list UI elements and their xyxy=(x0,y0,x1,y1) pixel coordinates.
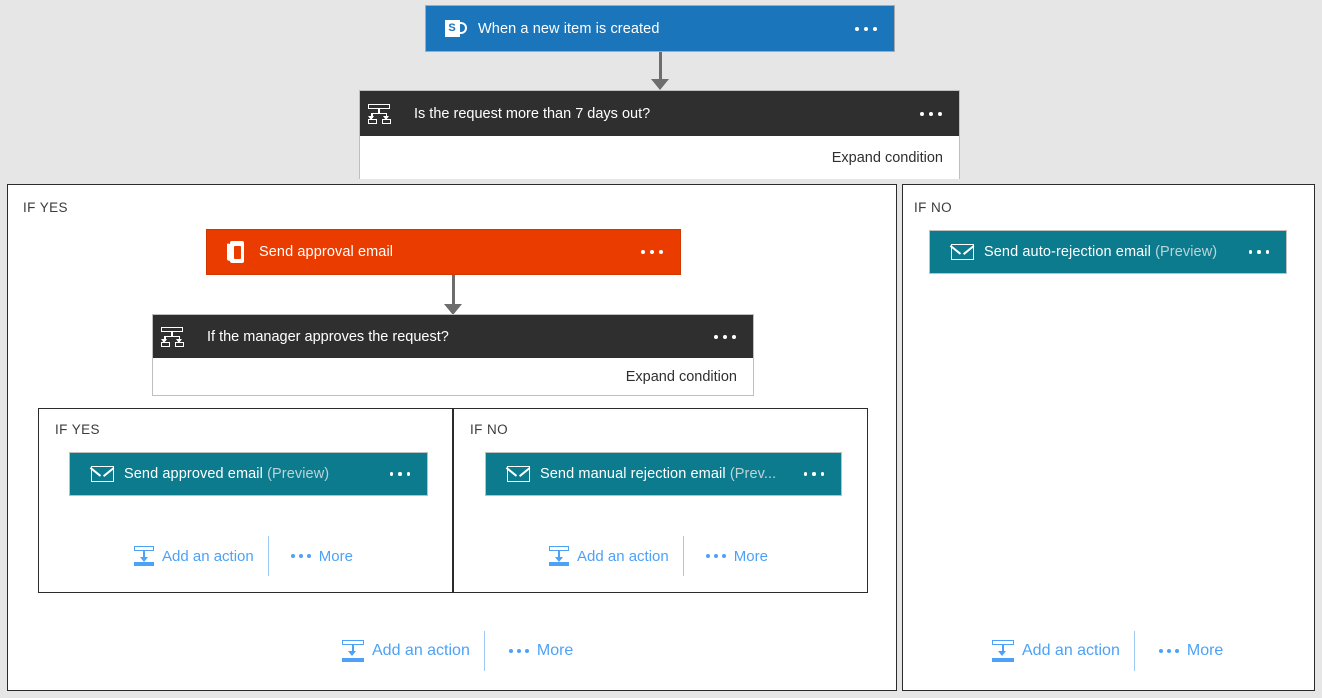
trigger-card-when-new-item-created[interactable]: S When a new item is created xyxy=(425,5,895,52)
nested-condition-card[interactable]: If the manager approves the request? Exp… xyxy=(152,314,754,396)
add-action-icon xyxy=(134,546,154,566)
connector-approval-to-nested-condition xyxy=(443,275,463,315)
send-approved-email-more-options-icon[interactable] xyxy=(390,472,428,476)
nested-if-no-label: IF NO xyxy=(470,422,508,437)
more-label: More xyxy=(1187,642,1223,660)
if-no-branch-label: IF NO xyxy=(914,200,952,215)
add-action-icon xyxy=(992,640,1014,662)
top-condition-more-options-icon[interactable] xyxy=(920,112,959,116)
more-button[interactable]: More xyxy=(684,548,782,565)
top-condition-expand-link[interactable]: Expand condition xyxy=(832,150,943,166)
more-dots-icon xyxy=(509,649,529,653)
connector-trigger-to-condition xyxy=(650,52,670,90)
top-condition-title: Is the request more than 7 days out? xyxy=(414,106,920,122)
add-an-action-button[interactable]: Add an action xyxy=(328,640,484,662)
nested-condition-more-options-icon[interactable] xyxy=(714,335,753,339)
action-card-title: Send approval email xyxy=(259,244,641,260)
nested-condition-body: Expand condition xyxy=(153,358,753,395)
send-auto-rejection-email-label: Send auto-rejection email xyxy=(984,244,1151,260)
top-condition-header[interactable]: Is the request more than 7 days out? xyxy=(360,91,959,136)
trigger-more-options-icon[interactable] xyxy=(855,27,894,31)
envelope-icon xyxy=(70,466,124,482)
send-approved-email-label: Send approved email xyxy=(124,466,263,482)
top-condition-body: Expand condition xyxy=(360,136,959,179)
trigger-card-title: When a new item is created xyxy=(478,21,855,37)
nested-condition-title: If the manager approves the request? xyxy=(207,329,714,345)
more-label: More xyxy=(319,548,353,565)
nested-condition-expand-link[interactable]: Expand condition xyxy=(626,369,737,385)
add-an-action-label: Add an action xyxy=(372,642,470,660)
send-auto-rejection-email-preview-tag: (Preview) xyxy=(1155,244,1217,260)
action-card-send-auto-rejection-email[interactable]: Send auto-rejection email (Preview) xyxy=(929,230,1287,274)
send-auto-rejection-email-more-options-icon[interactable] xyxy=(1249,250,1287,254)
add-action-icon xyxy=(342,640,364,662)
nested-if-yes-footer-actions: Add an action More xyxy=(120,536,367,576)
office365-icon xyxy=(207,241,259,263)
envelope-icon xyxy=(486,466,540,482)
top-condition-card[interactable]: Is the request more than 7 days out? Exp… xyxy=(359,90,960,179)
more-button[interactable]: More xyxy=(269,548,367,565)
if-yes-footer-actions: Add an action More xyxy=(328,631,587,671)
envelope-icon xyxy=(930,244,984,260)
add-an-action-button[interactable]: Add an action xyxy=(120,546,268,566)
action-card-send-approved-email[interactable]: Send approved email (Preview) xyxy=(69,452,428,496)
add-an-action-button[interactable]: Add an action xyxy=(978,640,1134,662)
action-card-title: Send auto-rejection email (Preview) xyxy=(984,244,1249,260)
send-approval-email-more-options-icon[interactable] xyxy=(641,250,680,254)
more-button[interactable]: More xyxy=(1135,642,1237,660)
send-approved-email-preview-tag: (Preview) xyxy=(267,466,329,482)
action-card-title: Send approved email (Preview) xyxy=(124,466,390,482)
nested-if-no-footer-actions: Add an action More xyxy=(535,536,782,576)
action-card-send-approval-email[interactable]: Send approval email xyxy=(206,229,681,275)
more-label: More xyxy=(537,642,573,660)
if-yes-branch-label: IF YES xyxy=(23,200,68,215)
add-an-action-label: Add an action xyxy=(577,548,669,565)
action-card-send-manual-rejection-email[interactable]: Send manual rejection email (Prev... xyxy=(485,452,842,496)
more-label: More xyxy=(734,548,768,565)
more-dots-icon xyxy=(706,554,726,558)
add-action-icon xyxy=(549,546,569,566)
nested-condition-header[interactable]: If the manager approves the request? xyxy=(153,315,753,358)
if-no-footer-actions: Add an action More xyxy=(978,631,1237,671)
more-dots-icon xyxy=(291,554,311,558)
more-button[interactable]: More xyxy=(485,642,587,660)
add-an-action-label: Add an action xyxy=(1022,642,1120,660)
add-an-action-label: Add an action xyxy=(162,548,254,565)
add-an-action-button[interactable]: Add an action xyxy=(535,546,683,566)
send-manual-rejection-email-preview-tag: (Prev... xyxy=(730,466,776,482)
send-manual-rejection-email-label: Send manual rejection email xyxy=(540,466,726,482)
send-manual-rejection-email-more-options-icon[interactable] xyxy=(804,472,842,476)
condition-branch-icon xyxy=(153,327,207,347)
sharepoint-icon: S xyxy=(426,20,478,37)
action-card-title: Send manual rejection email (Prev... xyxy=(540,466,804,482)
condition-branch-icon xyxy=(360,104,414,124)
more-dots-icon xyxy=(1159,649,1179,653)
nested-if-yes-label: IF YES xyxy=(55,422,100,437)
